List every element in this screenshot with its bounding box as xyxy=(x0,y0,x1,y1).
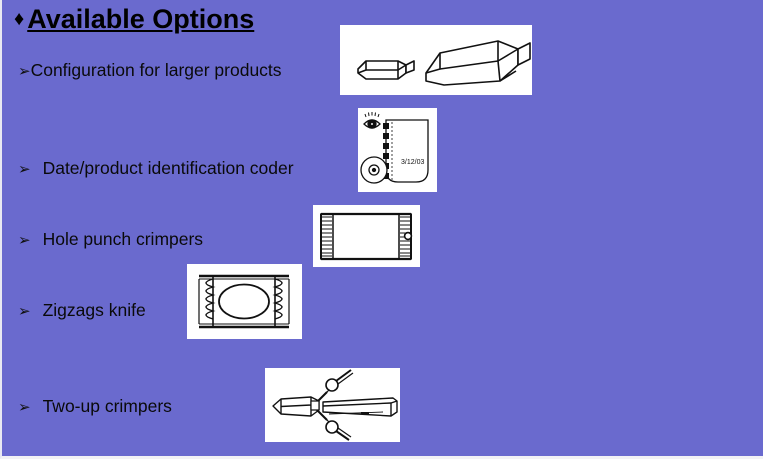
arrow-bullet-icon: ➢ xyxy=(18,64,31,79)
bullet-item-configuration: ➢ Configuration for larger products xyxy=(18,60,282,81)
hole-punch-package-illustration xyxy=(313,205,420,267)
arrow-bullet-icon: ➢ xyxy=(18,162,31,177)
product-outline xyxy=(219,285,269,319)
zigzag-knife-package-illustration xyxy=(187,264,302,339)
bullet-label: Zigzags knife xyxy=(43,300,146,321)
arrow-bullet-icon: ➢ xyxy=(18,233,31,248)
bullet-label: Configuration for larger products xyxy=(31,60,282,81)
coder-date-text: 3/12/03 xyxy=(401,159,424,166)
arrow-bullet-icon: ➢ xyxy=(18,400,31,415)
arrow-bullet-icon: ➢ xyxy=(18,304,31,319)
page-title: Available Options xyxy=(27,4,254,35)
date-coder-illustration: 3/12/03 xyxy=(358,108,437,192)
slide-canvas: ♦ Available Options ➢ Configuration for … xyxy=(0,0,763,459)
bullet-label: Hole punch crimpers xyxy=(43,229,203,250)
eye-icon xyxy=(364,112,380,128)
bullet-item-hole-punch: ➢ Hole punch crimpers xyxy=(18,229,203,250)
punched-hole xyxy=(405,233,412,240)
large-and-small-package-illustration xyxy=(340,25,532,95)
bullet-item-two-up-crimpers: ➢ Two-up crimpers xyxy=(18,396,172,417)
slide-title: ♦ Available Options xyxy=(14,4,254,35)
bullet-item-zigzag-knife: ➢ Zigzags knife xyxy=(18,300,146,321)
bullet-item-date-coder: ➢ Date/product identification coder xyxy=(18,158,294,179)
bullet-label: Two-up crimpers xyxy=(43,396,172,417)
crimper-arm-upper xyxy=(315,370,353,404)
diamond-bullet-icon: ♦ xyxy=(14,9,24,29)
two-up-crimper-illustration xyxy=(265,368,400,442)
bullet-label: Date/product identification coder xyxy=(43,158,294,179)
